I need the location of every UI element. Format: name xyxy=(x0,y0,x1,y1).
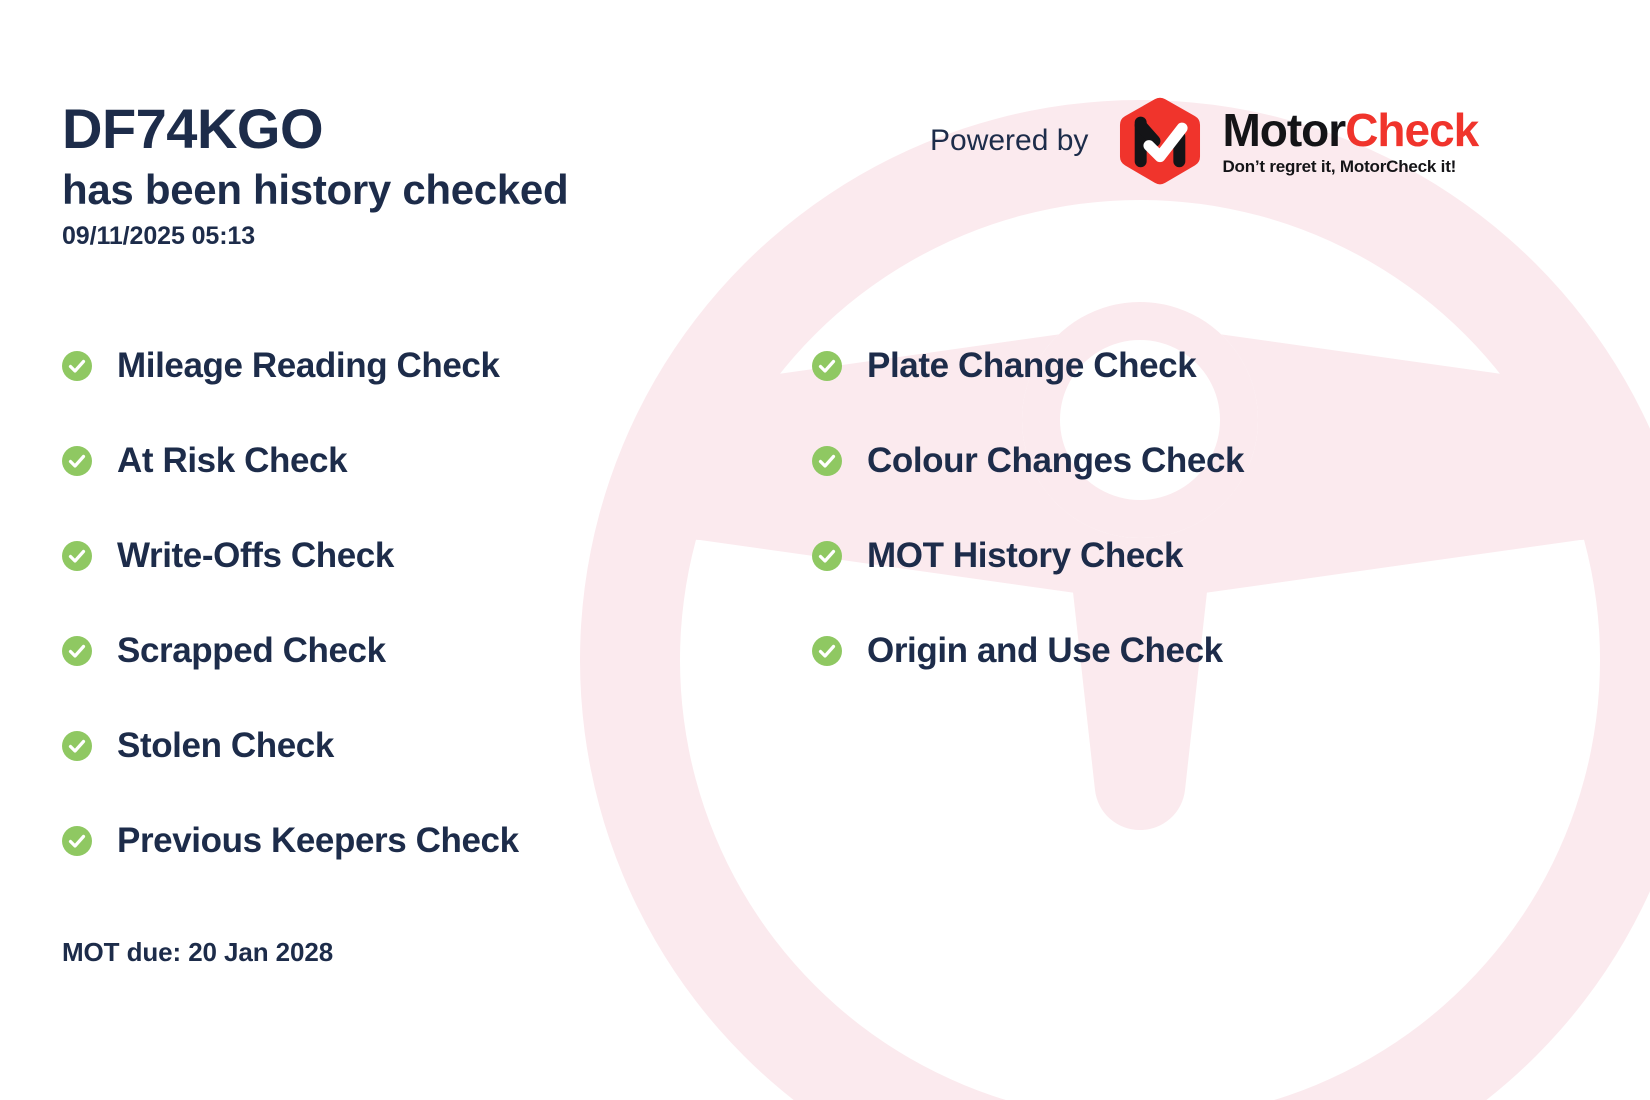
powered-by-label: Powered by xyxy=(930,124,1088,158)
check-circle-icon xyxy=(62,351,92,381)
check-list-item: Colour Changes Check xyxy=(812,413,1512,508)
check-list-item: Scrapped Check xyxy=(62,603,762,698)
card-content: DF74KGO has been history checked 09/11/2… xyxy=(0,0,1650,1100)
check-list-item-label: Mileage Reading Check xyxy=(117,346,500,386)
motorcheck-wordmark: MotorCheck xyxy=(1222,107,1478,153)
check-list-item-label: Origin and Use Check xyxy=(867,631,1223,671)
check-list-item-label: At Risk Check xyxy=(117,441,347,481)
check-list-item: Plate Change Check xyxy=(812,318,1512,413)
check-list-item: Mileage Reading Check xyxy=(62,318,762,413)
check-circle-icon xyxy=(62,826,92,856)
check-list-item: MOT History Check xyxy=(812,508,1512,603)
check-list-item-label: Write-Offs Check xyxy=(117,536,394,576)
check-list-item: Write-Offs Check xyxy=(62,508,762,603)
page-title-registration-plate: DF74KGO xyxy=(62,100,568,159)
mot-due-date: MOT due: 20 Jan 2028 xyxy=(62,937,333,968)
check-list-item: Previous Keepers Check xyxy=(62,793,762,888)
check-circle-icon xyxy=(812,351,842,381)
check-list-item-label: Scrapped Check xyxy=(117,631,386,671)
check-timestamp: 09/11/2025 05:13 xyxy=(62,222,568,251)
wordmark-motor: Motor xyxy=(1222,104,1345,156)
powered-by-block: Powered by MotorCheck Don’t regret xyxy=(930,95,1478,187)
motorcheck-wordmark-block: MotorCheck Don’t regret it, MotorCheck i… xyxy=(1222,107,1478,175)
brand-tagline: Don’t regret it, MotorCheck it! xyxy=(1222,158,1478,175)
check-circle-icon xyxy=(812,541,842,571)
check-list-item-label: Plate Change Check xyxy=(867,346,1196,386)
check-list-item: Stolen Check xyxy=(62,698,762,793)
check-list-item-label: Stolen Check xyxy=(117,726,334,766)
check-list-item-label: MOT History Check xyxy=(867,536,1183,576)
check-circle-icon xyxy=(812,636,842,666)
header-block: DF74KGO has been history checked 09/11/2… xyxy=(62,100,568,251)
check-list-item-label: Colour Changes Check xyxy=(867,441,1244,481)
check-list-item-label: Previous Keepers Check xyxy=(117,821,519,861)
check-circle-icon xyxy=(62,636,92,666)
motorcheck-logo[interactable]: MotorCheck Don’t regret it, MotorCheck i… xyxy=(1114,95,1478,187)
vehicle-history-check-card: DF74KGO has been history checked 09/11/2… xyxy=(0,0,1650,1100)
check-circle-icon xyxy=(62,446,92,476)
check-list-left-column: Mileage Reading Check At Risk Check Writ… xyxy=(62,318,762,888)
motorcheck-hexagon-icon xyxy=(1114,95,1206,187)
check-circle-icon xyxy=(62,731,92,761)
check-list-item: Origin and Use Check xyxy=(812,603,1512,698)
check-list-item: At Risk Check xyxy=(62,413,762,508)
check-list-right-column: Plate Change Check Colour Changes Check … xyxy=(812,318,1512,698)
check-circle-icon xyxy=(812,446,842,476)
headline-status-text: has been history checked xyxy=(62,165,568,215)
wordmark-check: Check xyxy=(1345,104,1478,156)
check-circle-icon xyxy=(62,541,92,571)
